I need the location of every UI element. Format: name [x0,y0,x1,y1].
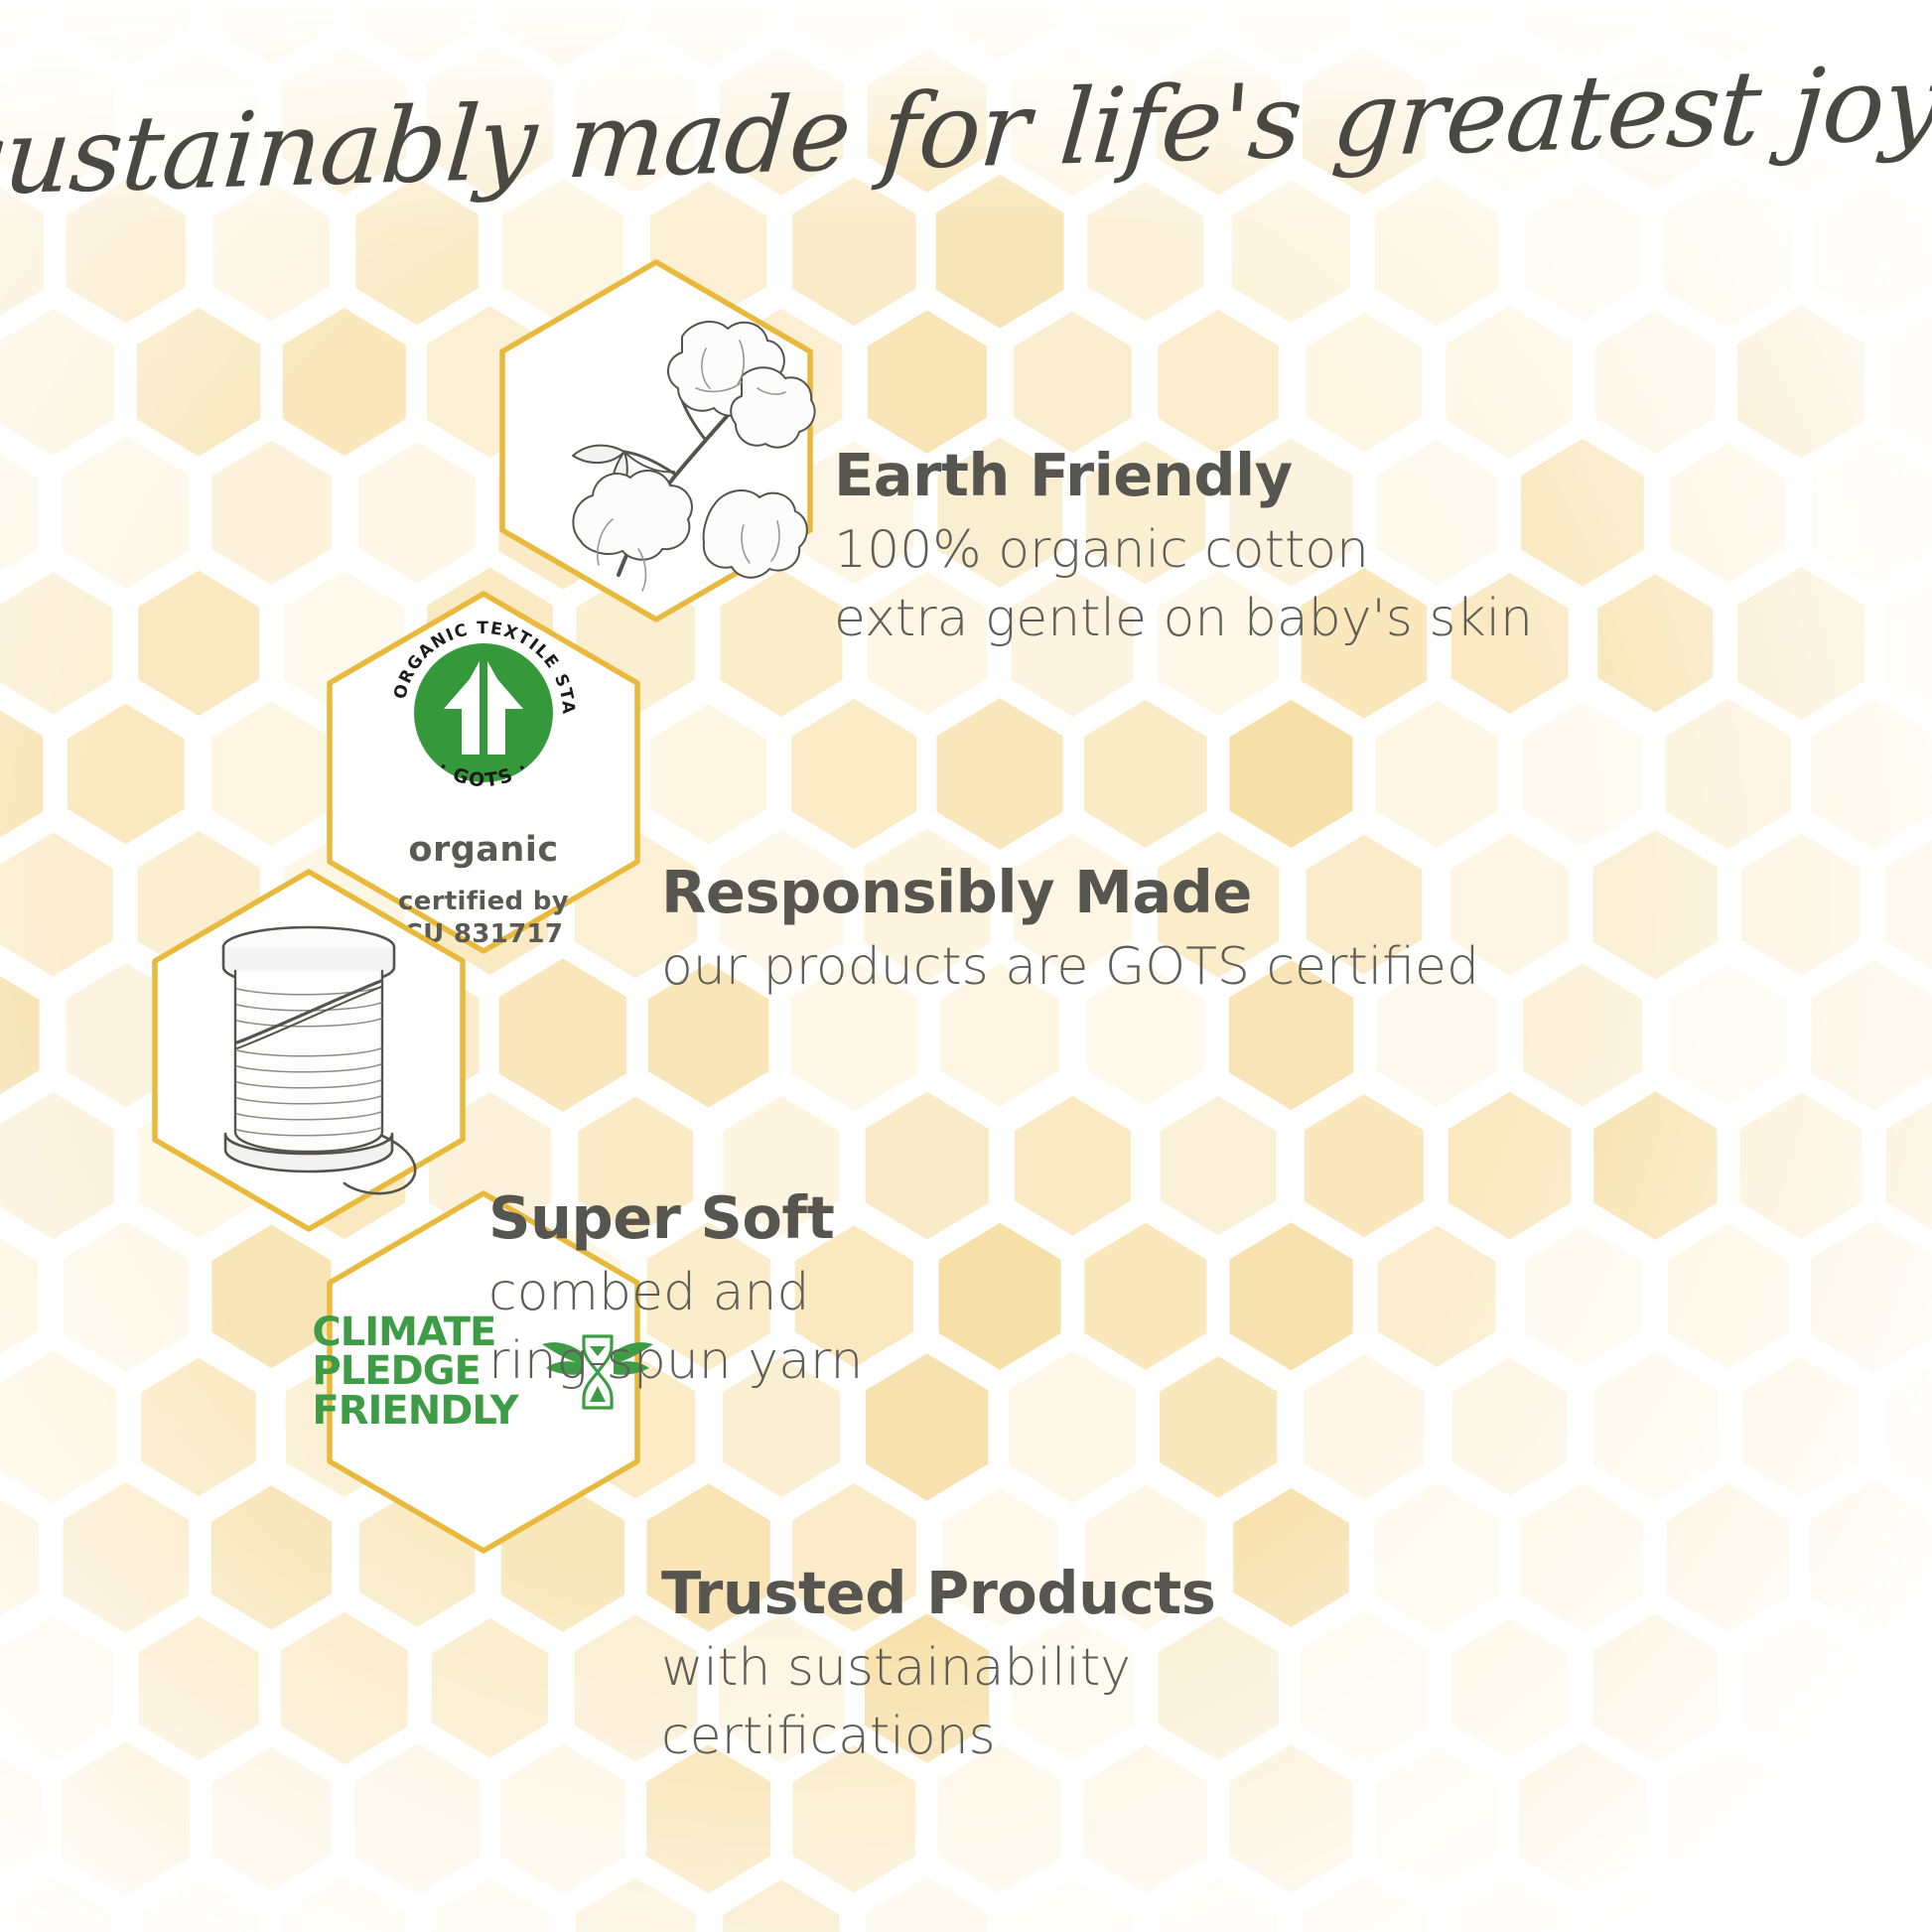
gots-certification-logo: GLOBAL ORGANIC TEXTILE STANDARD · GOTS · [376,606,591,820]
cpf-line-1: CLIMATE [312,1313,517,1352]
feature-body-line-1: 100% organic cotton [834,520,1533,581]
feature-title: Super Soft [488,1187,863,1249]
climate-pledge-wordmark: CLIMATE PLEDGE FRIENDLY [312,1313,517,1431]
gots-caption-organic: organic [408,830,558,870]
feature-body-line-1: our products are GOTS certified [661,937,1479,998]
feature-title: Trusted Products [661,1563,1215,1624]
feature-body-line-2: extra gentle on baby's skin [834,589,1533,649]
hex-card-super-soft [145,866,473,1235]
feature-text-super-soft: Super Soft combed and ring-spun yarn [488,1187,863,1393]
feature-body-line-1: combed and [488,1263,863,1323]
feature-title: Earth Friendly [834,445,1533,506]
page-title: sustainably made for life's greatest joy… [0,50,1932,209]
feature-text-earth-friendly: Earth Friendly 100% organic cotton extra… [834,445,1533,650]
cpf-line-2: PLEDGE [312,1352,517,1391]
infographic-canvas: sustainably made for life's greatest joy… [0,0,1932,1932]
cotton-branch-illustration [507,277,805,605]
feature-text-responsibly-made: Responsibly Made our products are GOTS c… [661,862,1479,998]
hex-card-earth-friendly [492,256,820,625]
headline-text: sustainably made for life's greatest joy [0,42,1932,218]
feature-title: Responsibly Made [661,862,1479,923]
feature-text-trusted-products: Trusted Products with sustainability cer… [661,1563,1215,1768]
spool-illustration-wrap [145,866,473,1235]
feature-body-line-2: ring-spun yarn [488,1331,863,1392]
cpf-line-3: FRIENDLY [312,1392,517,1431]
feature-body-line-1: with sustainability [661,1638,1215,1699]
feature-body-line-2: certifications [661,1707,1215,1767]
thread-spool-illustration [170,901,448,1199]
headline-container: sustainably made for life's greatest joy… [0,46,1932,214]
cotton-illustration-wrap [492,256,820,625]
